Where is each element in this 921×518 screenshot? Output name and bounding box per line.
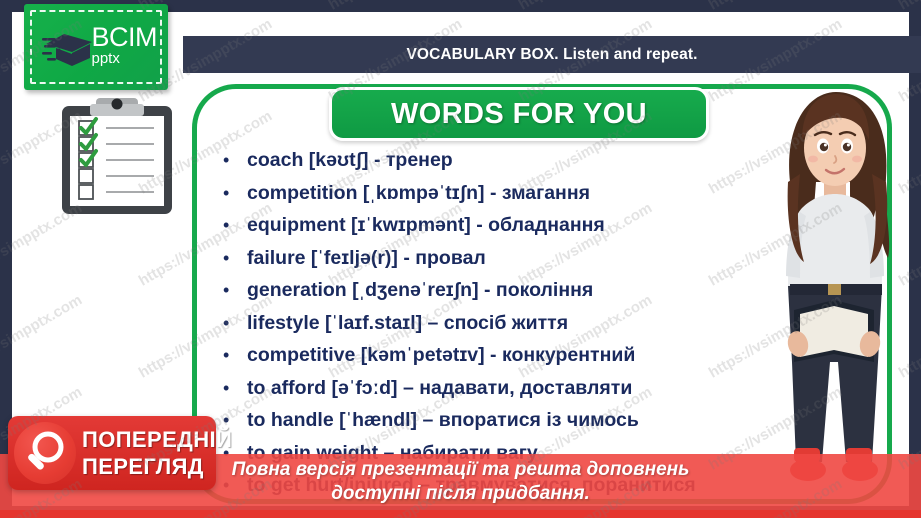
preview-watermark-badge: ПОПЕРЕДНІЙ ПЕРЕГЛЯД <box>8 416 216 490</box>
list-bullet: • <box>216 146 247 174</box>
words-for-you-label: WORDS FOR YOU <box>391 98 647 131</box>
logo-title: BCIM <box>92 24 158 50</box>
magnifier-icon <box>14 422 76 484</box>
vocab-entry-2: equipment [ɪˈkwɪpmənt] - обладнання <box>247 211 605 240</box>
vocab-entry-6: competitive [kəmˈpetətɪv] - конкурентний <box>247 341 635 370</box>
vocab-entry-4: generation [ˌdʒenəˈreɪʃn] - покоління <box>247 276 593 305</box>
vocab-entry-1: competition [ˌkɒmpəˈtɪʃn] - змагання <box>247 179 590 208</box>
vocab-entry-5: lifestyle [ˈlaɪf.staɪl] – спосіб життя <box>247 309 568 338</box>
overlay-line-2: доступні після придбання. <box>331 482 590 506</box>
list-item: • competition [ˌkɒmpəˈtɪʃn] - змагання <box>216 179 736 208</box>
slide-title-text: VOCABULARY BOX. Listen and repeat. <box>406 46 697 64</box>
logo-text-group: BCIM pptx <box>92 24 158 67</box>
list-bullet: • <box>216 309 247 337</box>
list-item: • coach [kəʊtʃ] - тренер <box>216 146 736 175</box>
student-girl-with-book-illustration <box>742 62 921 518</box>
list-item: • to handle [ˈhændl] – впоратися із чимо… <box>216 406 736 435</box>
bcim-logo-badge: BCIM pptx <box>24 4 168 90</box>
preview-badge-line-2: ПЕРЕГЛЯД <box>82 453 232 480</box>
list-item: • equipment [ɪˈkwɪpmənt] - обладнання <box>216 211 736 240</box>
list-bullet: • <box>216 276 247 304</box>
vocab-entry-3: failure [ˈfeɪljə(r)] - провал <box>247 244 486 273</box>
list-bullet: • <box>216 244 247 272</box>
list-item: • competitive [kəmˈpetətɪv] - конкурентн… <box>216 341 736 370</box>
list-item: • lifestyle [ˈlaɪf.staɪl] – спосіб життя <box>216 309 736 338</box>
list-bullet: • <box>216 341 247 369</box>
list-item: • to afford [əˈfɔːd] – надавати, доставл… <box>216 374 736 403</box>
preview-badge-text: ПОПЕРЕДНІЙ ПЕРЕГЛЯД <box>82 426 232 480</box>
overlay-bottom-strip <box>0 510 921 518</box>
vocab-entry-8: to handle [ˈhændl] – впоратися із чимось <box>247 406 639 435</box>
list-bullet: • <box>216 211 247 239</box>
slide-canvas: BCIM pptx VOCABULARY BOX. Listen and rep… <box>0 0 921 518</box>
vocab-entry-7: to afford [əˈfɔːd] – надавати, доставлят… <box>247 374 632 403</box>
vocabulary-list: • coach [kəʊtʃ] - тренер • competition [… <box>216 146 736 504</box>
list-item: • failure [ˈfeɪljə(r)] - провал <box>216 244 736 273</box>
vocab-entry-0: coach [kəʊtʃ] - тренер <box>247 146 453 175</box>
list-item: • generation [ˌdʒenəˈreɪʃn] - покоління <box>216 276 736 305</box>
clipboard-checklist-icon <box>56 92 178 218</box>
logo-subtitle: pptx <box>92 51 158 67</box>
preview-badge-line-1: ПОПЕРЕДНІЙ <box>82 426 232 453</box>
words-for-you-header: WORDS FOR YOU <box>329 87 709 141</box>
list-bullet: • <box>216 374 247 402</box>
overlay-line-1: Повна версія презентації та решта доповн… <box>232 458 690 482</box>
list-bullet: • <box>216 179 247 207</box>
